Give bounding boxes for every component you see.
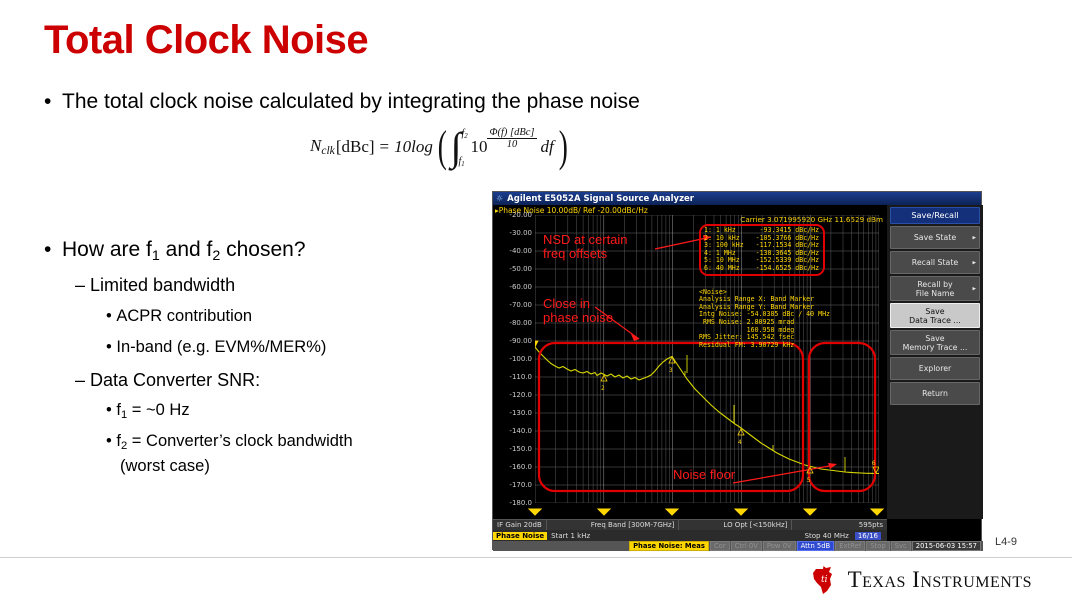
bullet-data-converter-snr: – Data Converter SNR: <box>75 370 260 391</box>
if-gain-setting[interactable]: IF Gain 20dB <box>493 520 547 530</box>
status-chip-pow[interactable]: Pow 0V <box>763 541 796 551</box>
sweep-mode-tag[interactable]: Phase Noise <box>493 532 547 540</box>
status-chip-ctrl[interactable]: Ctrl 0V <box>731 541 762 551</box>
svg-text:2: 2 <box>601 385 605 392</box>
eq-paren-close: ) <box>559 131 568 163</box>
x-marker-3 <box>666 509 678 515</box>
y-tick-label: -100.0 <box>509 355 532 363</box>
phase-noise-trace <box>535 347 879 474</box>
x-marker-5 <box>804 509 816 515</box>
softkey-recall-by-file-name[interactable]: Recall by File Name ▸ <box>890 276 980 301</box>
softkey-label: Recall by <box>917 280 952 289</box>
bullet-marker: • <box>106 401 116 419</box>
footer-divider <box>0 557 1072 558</box>
page-title: Total Clock Noise <box>44 18 368 63</box>
marker-1 <box>535 341 538 347</box>
bullet-total-clock-noise: •The total clock noise calculated by int… <box>44 90 640 114</box>
x-marker-2 <box>598 509 610 515</box>
softkey-explorer[interactable]: Explorer <box>890 357 980 380</box>
noise-floor-annotation: Noise floor <box>673 468 735 482</box>
eq-df: df <box>541 137 554 157</box>
eq-exponent-denominator: 10 <box>487 138 536 150</box>
sweep-stop[interactable]: Stop 40 MHz <box>805 532 849 540</box>
y-tick-label: -50.00 <box>509 265 532 273</box>
freq-band-setting[interactable]: Freq Band [300M-7GHz] <box>587 520 680 530</box>
bullet-limited-bandwidth: – Limited bandwidth <box>75 275 235 296</box>
phase-noise-plot[interactable]: ▸Phase Noise 10.00dB/ Ref -20.00dBc/Hz C… <box>493 205 887 519</box>
slide: Total Clock Noise •The total clock noise… <box>0 0 1072 605</box>
trace-markers <box>535 341 879 473</box>
eq-tenlog: 10log <box>394 137 433 157</box>
noise-analysis-readout: <Noise> Analysis Range X: Band Marker An… <box>699 281 830 357</box>
softkey-label: Save <box>925 307 944 316</box>
status-chip-attn[interactable]: Attn 5dB <box>797 541 835 551</box>
softkey-label-2: File Name <box>916 289 955 298</box>
bullet-text: Limited bandwidth <box>90 275 235 295</box>
status-chip-stop[interactable]: Stop <box>866 541 889 551</box>
softkey-label-2: Data Trace ... <box>909 316 961 325</box>
dash-marker: – <box>75 370 90 390</box>
softkey-label: Save State <box>914 233 956 242</box>
y-tick-label: -130.0 <box>509 409 532 417</box>
softkey-save-memory-trace[interactable]: Save Memory Trace ... <box>890 330 980 355</box>
softkey-menu[interactable]: Save/Recall Save State ▸ Recall State ▸ … <box>887 205 983 519</box>
softkey-label-2: Memory Trace ... <box>903 343 968 352</box>
svg-text:5: 5 <box>807 477 811 484</box>
settings-bar: IF Gain 20dB Freq Band [300M-7GHz] LO Op… <box>493 519 887 530</box>
close-in-box <box>539 343 803 491</box>
sweep-average-count[interactable]: 16/16 <box>855 532 881 540</box>
y-tick-label: -80.00 <box>509 319 532 327</box>
status-chip-svc[interactable]: Svc <box>891 541 911 551</box>
y-tick-label: -170.0 <box>509 481 532 489</box>
bullet-in-band: • In-band (e.g. EVM%/MER%) <box>106 338 326 357</box>
bullet-text: How are f1 and f2 chosen? <box>62 238 306 261</box>
softkey-save-data-trace[interactable]: Save Data Trace ... <box>890 303 980 328</box>
bullet-text: Data Converter SNR: <box>90 370 260 390</box>
eq-limit-upper: f2 <box>461 128 467 140</box>
y-tick-label: -160.0 <box>509 463 532 471</box>
ti-wordmark: Texas Instruments <box>848 567 1032 593</box>
points-setting[interactable]: 595pts <box>855 520 887 530</box>
y-tick-label: -90.00 <box>509 337 532 345</box>
eq-paren-open: ( <box>438 131 447 163</box>
eq-exponent-numerator: Φ(f) [dBc] <box>487 127 536 138</box>
softkey-label: Recall State <box>912 258 958 267</box>
instrument-titlebar: ☼ Agilent E5052A Signal Source Analyzer <box>493 192 981 205</box>
y-tick-label: -120.0 <box>509 391 532 399</box>
analysis-line: Residual FM: 3.90729 kHz <box>699 341 794 349</box>
nsd-annotation-line1: NSD at certain <box>543 233 628 247</box>
status-meas: Phase Noise: Meas <box>629 541 709 551</box>
status-chip-extref[interactable]: ExtRef <box>835 541 865 551</box>
noise-floor-arrow-line <box>733 465 835 483</box>
app-icon: ☼ <box>496 194 503 203</box>
nsd-annotation-line2: freq offsets <box>543 247 628 261</box>
eq-exponent: Φ(f) [dBc] 10 <box>487 127 536 150</box>
eq-limit-lower: f1 <box>458 156 464 168</box>
y-tick-label: -110.0 <box>509 373 532 381</box>
eq-base: 10 <box>470 137 487 157</box>
dash-marker: – <box>75 275 90 295</box>
svg-text:3: 3 <box>669 367 673 374</box>
softkey-save-state[interactable]: Save State ▸ <box>890 226 980 249</box>
svg-text:4: 4 <box>738 439 742 446</box>
x-axis-markers <box>493 507 887 517</box>
eq-lhs-unit: [dBc] <box>336 137 375 157</box>
bullet-marker: • <box>106 338 116 356</box>
eq-equals: = <box>380 137 390 157</box>
y-tick-label: -40.00 <box>509 247 532 255</box>
ti-logo: ti Texas Instruments <box>809 563 1032 597</box>
x-marker-1 <box>529 509 541 515</box>
sweep-start[interactable]: Start 1 kHz <box>551 532 590 540</box>
close-in-annotation-line1: Close in <box>543 297 613 311</box>
y-tick-label: -60.00 <box>509 283 532 291</box>
chevron-right-icon: ▸ <box>972 258 976 267</box>
bullet-text: The total clock noise calculated by inte… <box>62 90 640 113</box>
y-tick-label: -140.0 <box>509 427 532 435</box>
status-clock: 2015-06-03 15:57 <box>912 541 981 551</box>
bullet-worst-case: (worst case) <box>120 457 210 476</box>
x-marker-6 <box>871 509 883 515</box>
softkey-title: Save/Recall <box>890 207 980 224</box>
equation-total-clock-noise: Nclk [dBc] = 10log ( ∫ f2 f1 10 Φ(f) [dB… <box>310 131 570 163</box>
instrument-title: Agilent E5052A Signal Source Analyzer <box>507 194 694 204</box>
spurs <box>685 355 875 473</box>
y-tick-label: -150.0 <box>509 445 532 453</box>
bullet-text: f1 = ~0 Hz <box>116 401 189 419</box>
bullet-marker: • <box>44 90 62 114</box>
bullet-text: (worst case) <box>120 457 210 475</box>
chevron-right-icon: ▸ <box>972 284 976 293</box>
softkey-label: Save <box>925 334 944 343</box>
sweep-bar: Phase Noise Start 1 kHz Stop 40 MHz 16/1… <box>493 530 887 541</box>
lo-opt-setting[interactable]: LO Opt [<150kHz] <box>719 520 792 530</box>
softkey-label: Explorer <box>919 364 951 373</box>
y-tick-label: -70.00 <box>509 301 532 309</box>
status-bar: Phase Noise: Meas Cor Ctrl 0V Pow 0V Att… <box>493 541 983 551</box>
nsd-annotation: NSD at certain freq offsets <box>543 233 628 261</box>
y-tick-label: -20.00 <box>509 211 532 219</box>
bullet-text: f2 = Converter’s clock bandwidth <box>116 432 352 450</box>
bullet-text: ACPR contribution <box>116 307 252 325</box>
bullet-marker: • <box>106 432 116 450</box>
bullet-acpr-contribution: • ACPR contribution <box>106 307 252 326</box>
y-tick-label: -180.0 <box>509 499 532 507</box>
svg-text:6: 6 <box>872 460 876 467</box>
status-chip-cor[interactable]: Cor <box>710 541 730 551</box>
softkey-return[interactable]: Return <box>890 382 980 405</box>
slide-number: L4-9 <box>995 536 1017 548</box>
bullet-f2-value: • f2 = Converter’s clock bandwidth <box>106 432 353 452</box>
svg-text:ti: ti <box>821 575 828 585</box>
close-in-annotation-line2: phase noise <box>543 311 613 325</box>
bullet-marker: • <box>44 238 62 262</box>
bullet-f1-value: • f1 = ~0 Hz <box>106 401 190 421</box>
noise-floor-arrow-head <box>828 463 837 469</box>
y-tick-label: -30.00 <box>509 229 532 237</box>
bullet-marker: • <box>106 307 116 325</box>
softkey-recall-state[interactable]: Recall State ▸ <box>890 251 980 274</box>
chevron-right-icon: ▸ <box>972 233 976 242</box>
close-in-annotation: Close in phase noise <box>543 297 613 325</box>
marker-row: 6: 40 MHz -154.6525 dBc/Hz <box>704 265 819 273</box>
eq-lhs: Nclk <box>310 136 335 157</box>
x-marker-4 <box>735 509 747 515</box>
marker-readout-table: 1: 1 kHz -93.3415 dBc/Hz2: 10 kHz -105.3… <box>699 224 825 276</box>
instrument-body: ▸Phase Noise 10.00dB/ Ref -20.00dBc/Hz C… <box>493 205 981 551</box>
bullet-how-are-f1-f2: •How are f1 and f2 chosen? <box>44 238 306 264</box>
bullet-text: In-band (e.g. EVM%/MER%) <box>116 338 326 356</box>
instrument-screenshot: ☼ Agilent E5052A Signal Source Analyzer … <box>492 191 982 550</box>
softkey-label: Return <box>922 389 948 398</box>
texas-logo-icon: ti <box>809 565 839 595</box>
